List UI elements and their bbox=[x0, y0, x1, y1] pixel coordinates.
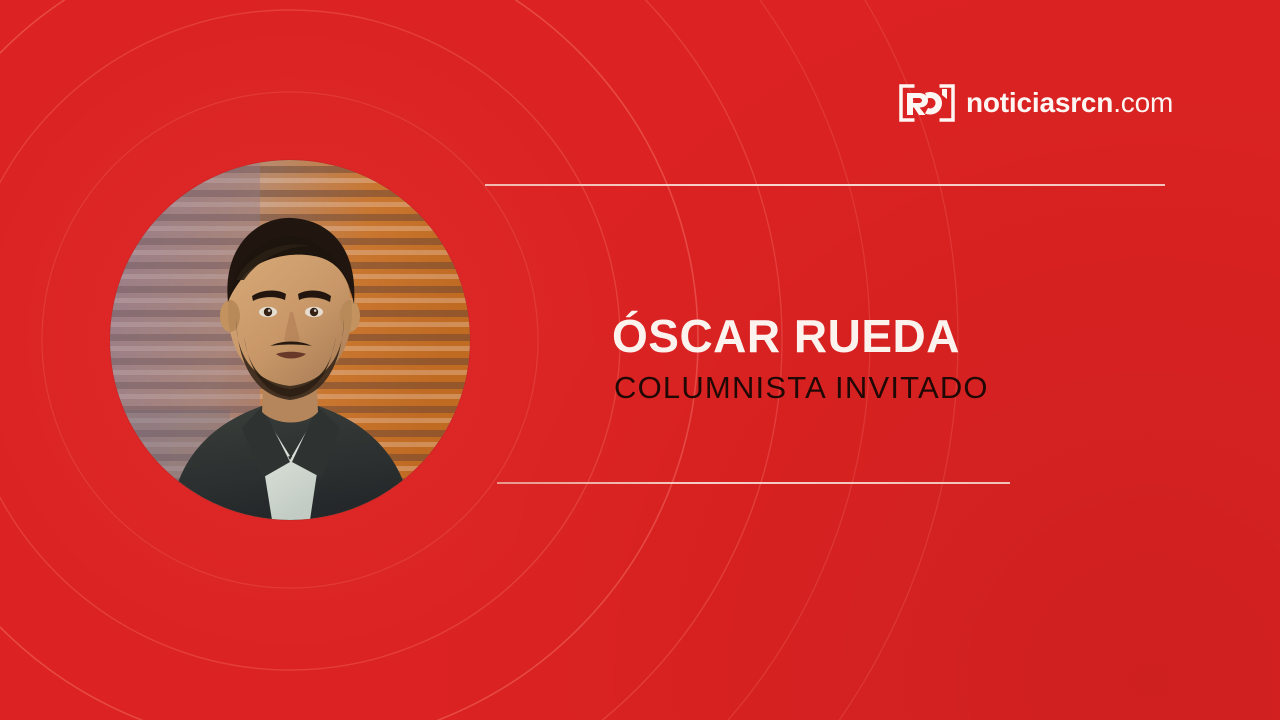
brand-wordmark: noticiasrcn.com bbox=[966, 88, 1173, 118]
brand-logo[interactable]: noticiasrcn.com bbox=[899, 84, 1173, 122]
avatar bbox=[110, 160, 470, 520]
columnist-identity: ÓSCAR RUEDA COLUMNISTA INVITADO bbox=[612, 310, 1132, 406]
page-title: ÓSCAR RUEDA bbox=[612, 310, 1132, 362]
brand-name-bold: noticiasrcn bbox=[966, 87, 1113, 118]
columnist-role: COLUMNISTA INVITADO bbox=[614, 370, 1132, 406]
divider-top bbox=[485, 184, 1165, 186]
columnist-card: ÓSCAR RUEDA COLUMNISTA INVITADO noticias… bbox=[0, 0, 1280, 720]
brand-name-tld: .com bbox=[1113, 87, 1173, 118]
rcn-letter-r bbox=[907, 93, 928, 115]
rcn-logo-mark bbox=[899, 84, 955, 122]
divider-bottom bbox=[497, 482, 1010, 484]
